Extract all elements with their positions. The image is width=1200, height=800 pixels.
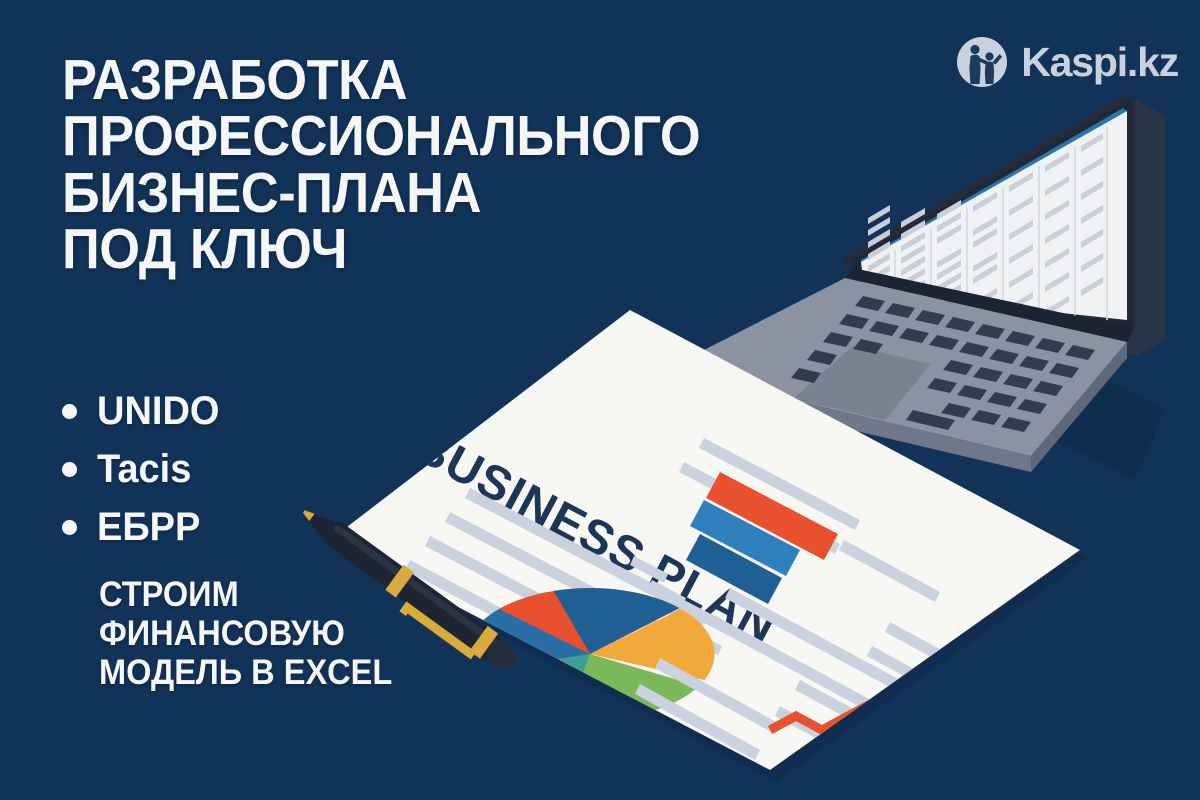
tagline-line-3: МОДЕЛЬ В EXCEL (99, 653, 392, 692)
headline-line-3: БИЗНЕС-ПЛАНА (62, 165, 743, 221)
tagline-block: СТРОИМ ФИНАНСОВУЮ МОДЕЛЬ В EXCEL (99, 575, 392, 693)
bullet-dot-icon (62, 520, 77, 535)
bullet-label-ebrr: ЕБРР (97, 505, 200, 550)
kaspi-family-circle-icon (956, 36, 1008, 88)
bullet-dot-icon (62, 404, 77, 419)
bullet-dot-icon (62, 462, 77, 477)
tagline-line-2: ФИНАНСОВУЮ (99, 614, 392, 653)
feature-list: UNIDO Tacis ЕБРР (62, 382, 226, 556)
brand-logo: Kaspi.kz (956, 36, 1178, 88)
list-item: UNIDO (62, 382, 226, 440)
page-title: РАЗРАБОТКА ПРОФЕССИОНАЛЬНОГО БИЗНЕС-ПЛАН… (62, 52, 743, 278)
bullet-label-unido: UNIDO (97, 389, 219, 434)
poster-canvas: BUSINESS PLAN (0, 0, 1200, 800)
bullet-label-tacis: Tacis (97, 447, 191, 492)
headline-line-4: ПОД КЛЮЧ (62, 221, 743, 277)
list-item: ЕБРР (62, 498, 226, 556)
tagline-line-1: СТРОИМ (99, 575, 392, 614)
brand-name: Kaspi.kz (1021, 39, 1178, 86)
headline-block: РАЗРАБОТКА ПРОФЕССИОНАЛЬНОГО БИЗНЕС-ПЛАН… (62, 52, 802, 278)
headline-line-2: ПРОФЕССИОНАЛЬНОГО (62, 108, 743, 164)
headline-line-1: РАЗРАБОТКА (62, 52, 743, 108)
list-item: Tacis (62, 440, 226, 498)
